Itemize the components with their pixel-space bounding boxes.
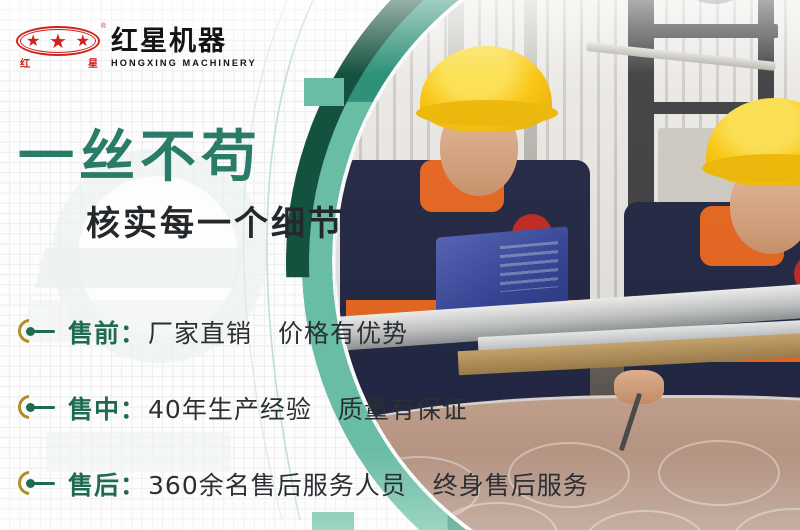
promo-banner: ★ ★ ★ 红 星 ® 红星机器 HONGXING MACHINERY 一丝不苟… [0, 0, 800, 530]
arc-dot-dash-icon [18, 319, 62, 345]
headline-title: 一丝不苟 [18, 112, 262, 193]
brand-logo[interactable]: ★ ★ ★ 红 星 ® 红星机器 HONGXING MACHINERY [16, 24, 257, 70]
arc-dot-dash-icon [18, 471, 62, 497]
bullet-text: 厂家直销 价格有优势 [148, 314, 408, 350]
star-icon-left: ★ [26, 34, 40, 50]
list-item: 售中： 40年生产经验 质量有保证 [18, 370, 658, 446]
star-icon-right: ★ [76, 34, 90, 50]
list-item: 售后： 360余名售后服务人员 终身售后服务 [18, 446, 658, 522]
star-icon-middle: ★ [49, 32, 67, 52]
logo-company-name-cn: 红星机器 [111, 27, 257, 57]
bullet-label: 售中： [68, 390, 146, 426]
logo-oval-char-left: 红 [20, 55, 30, 70]
arc-dot-dash-icon [18, 395, 62, 421]
logo-company-name-en: HONGXING MACHINERY [111, 58, 257, 68]
bullet-text: 360余名售后服务人员 终身售后服务 [148, 466, 589, 502]
service-bullet-list: 售前： 厂家直销 价格有优势 售中： 40年生产经验 质量有保证 售后： 360… [18, 294, 658, 522]
hongxing-oval-stars-icon: ★ ★ ★ 红 星 ® [16, 24, 102, 70]
list-item: 售前： 厂家直销 价格有优势 [18, 294, 658, 370]
registered-trademark-icon: ® [101, 23, 106, 30]
logo-oval-char-right: 星 [88, 55, 98, 70]
bullet-label: 售后： [68, 466, 146, 502]
bullet-label: 售前： [68, 314, 146, 350]
bullet-text: 40年生产经验 质量有保证 [148, 390, 468, 426]
headline-subtitle: 核实每一个细节 [86, 196, 345, 245]
